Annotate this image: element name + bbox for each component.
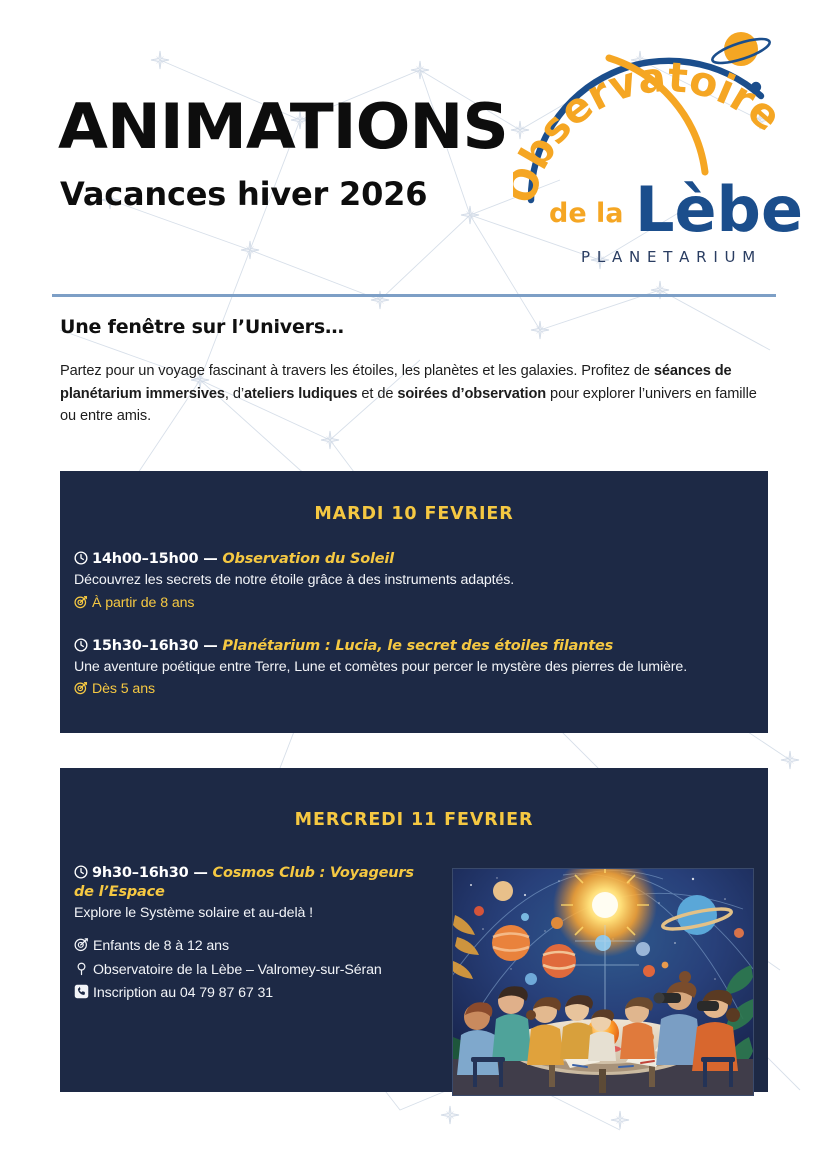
logo-word-de-la: de la bbox=[549, 198, 624, 229]
header-divider bbox=[52, 294, 776, 297]
page-title: ANIMATIONS bbox=[58, 96, 508, 158]
clock-icon bbox=[74, 865, 88, 879]
event-description: Découvrez les secrets de notre étoile gr… bbox=[74, 571, 754, 590]
event-list: 9h30–16h30 — Cosmos Club : Voyageurs de … bbox=[74, 864, 754, 1096]
event-headline: 9h30–16h30 — Cosmos Club : Voyageurs de … bbox=[74, 864, 436, 902]
event-age-row: À partir de 8 ans bbox=[74, 593, 754, 613]
event-booking: Inscription au 04 79 87 67 31 bbox=[93, 985, 273, 1001]
target-icon bbox=[74, 937, 89, 952]
intro-bold-ateliers: ateliers ludiques bbox=[244, 386, 357, 402]
intro-line-2e: et de bbox=[357, 386, 397, 402]
event-place-row: Observatoire de la Lèbe – Valromey-sur-S… bbox=[74, 960, 436, 980]
day-card-mardi: MARDI 10 FEVRIER 14h00–15h00 — Observati… bbox=[60, 471, 768, 733]
clock-icon bbox=[74, 551, 88, 565]
event-time: 14h00–15h00 bbox=[92, 551, 198, 567]
poster-header: ANIMATIONS Vacances hiver 2026 Observato… bbox=[0, 0, 827, 300]
event-illustration bbox=[452, 868, 754, 1096]
event-headline: 15h30–16h30 — Planétarium : Lucia, le se… bbox=[74, 637, 754, 656]
intro-section: Une fenêtre sur l’Univers… Partez pour u… bbox=[60, 316, 760, 428]
event-list: 14h00–15h00 — Observation du Soleil Déco… bbox=[74, 550, 754, 699]
event-title: Planétarium : Lucia, le secret des étoil… bbox=[222, 638, 613, 654]
day-card-body: 9h30–16h30 — Cosmos Club : Voyageurs de … bbox=[60, 864, 768, 1096]
title-block: ANIMATIONS Vacances hiver 2026 bbox=[58, 96, 490, 210]
intro-paragraph: Partez pour un voyage fascinant à traver… bbox=[60, 360, 760, 428]
location-pin-icon bbox=[74, 961, 89, 976]
event-age: Dès 5 ans bbox=[92, 681, 155, 697]
page-subtitle: Vacances hiver 2026 bbox=[60, 178, 490, 210]
event-time: 15h30–16h30 bbox=[92, 638, 198, 654]
event-place: Observatoire de la Lèbe – Valromey-sur-S… bbox=[93, 962, 382, 978]
event-booking-row: Inscription au 04 79 87 67 31 bbox=[74, 983, 436, 1003]
day-card-date: MARDI 10 FEVRIER bbox=[60, 471, 768, 524]
event-headline: 14h00–15h00 — Observation du Soleil bbox=[74, 550, 754, 569]
intro-bold-soirees: soirées d’observation bbox=[397, 386, 546, 402]
day-card-body: 14h00–15h00 — Observation du Soleil Déco… bbox=[60, 550, 768, 699]
target-icon bbox=[74, 595, 88, 609]
event-age-row: Dès 5 ans bbox=[74, 679, 754, 699]
event-description: Une aventure poétique entre Terre, Lune … bbox=[74, 658, 754, 677]
event-age: À partir de 8 ans bbox=[92, 595, 194, 611]
target-icon bbox=[74, 681, 88, 695]
clock-icon bbox=[74, 638, 88, 652]
event-age: Enfants de 8 à 12 ans bbox=[93, 938, 229, 954]
logo-word-lebe: Lèbe bbox=[635, 173, 803, 246]
event-dash: — bbox=[189, 865, 213, 881]
event-title: Observation du Soleil bbox=[222, 551, 394, 567]
phone-icon bbox=[74, 984, 89, 999]
event-age-row: Enfants de 8 à 12 ans bbox=[74, 936, 436, 956]
intro-line-2c: , d’ bbox=[225, 386, 244, 402]
day-card-mercredi: MERCREDI 11 FEVRIER 9h30–16h30 — Cosmos … bbox=[60, 768, 768, 1092]
event-item: 9h30–16h30 — Cosmos Club : Voyageurs de … bbox=[74, 864, 436, 1003]
intro-line-2a: Profitez de bbox=[581, 363, 654, 379]
observatoire-de-la-lebe-logo: Observatoire de la Lèbe P L A N E T A R … bbox=[513, 22, 803, 277]
event-dash: — bbox=[198, 551, 222, 567]
event-item: 15h30–16h30 — Planétarium : Lucia, le se… bbox=[74, 637, 754, 700]
intro-heading: Une fenêtre sur l’Univers… bbox=[60, 316, 760, 338]
event-dash: — bbox=[198, 638, 222, 654]
event-photo-wrapper bbox=[452, 864, 754, 1096]
poster-page: ANIMATIONS Vacances hiver 2026 Observato… bbox=[0, 0, 827, 1169]
day-card-date: MERCREDI 11 FEVRIER bbox=[60, 768, 768, 830]
event-description: Explore le Système solaire et au-delà ! bbox=[74, 904, 436, 923]
logo-word-planetarium: P L A N E T A R I U M bbox=[581, 248, 756, 266]
event-time: 9h30–16h30 bbox=[92, 865, 189, 881]
intro-line-1: Partez pour un voyage fascinant à traver… bbox=[60, 363, 577, 379]
event-item: 14h00–15h00 — Observation du Soleil Déco… bbox=[74, 550, 754, 613]
